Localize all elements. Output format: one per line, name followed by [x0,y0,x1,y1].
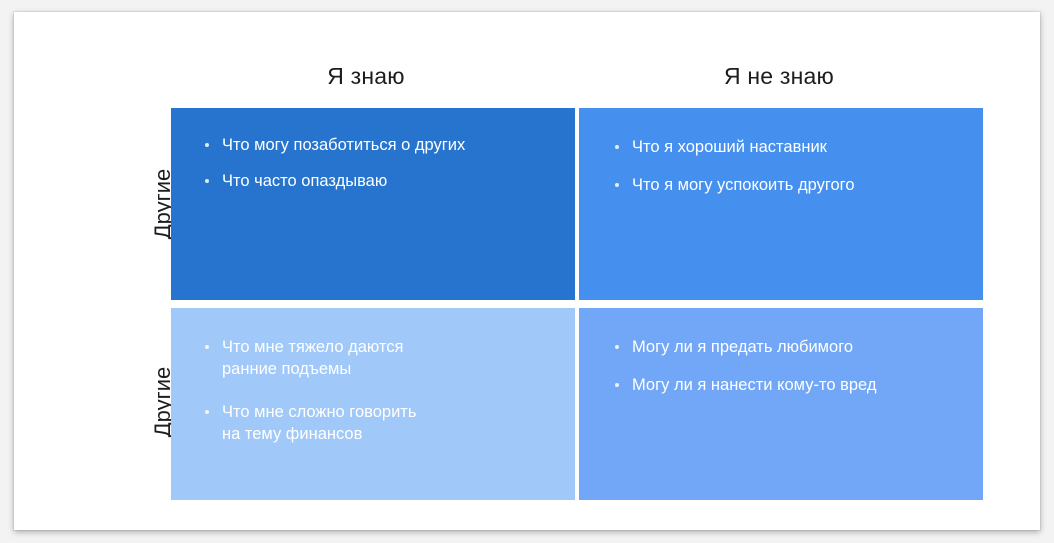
diagram-card: Я знаю Я не знаю Другие знают Другие не … [14,12,1040,530]
quadrant-unknown-area: Могу ли я предать любимого Могу ли я нан… [579,308,983,500]
list-item: Могу ли я предать любимого [615,336,961,358]
column-header-i-dont-know: Я не знаю [575,54,983,98]
quadrant-open-area-list: Что могу позаботиться о других Что часто… [205,134,553,193]
quadrant-open-area: Что могу позаботиться о других Что часто… [171,108,575,300]
quadrant-grid: Что могу позаботиться о других Что часто… [171,108,983,500]
list-item: Что я хороший наставник [615,136,961,158]
list-item: Что мне тяжело даются ранние подъемы [205,336,553,381]
list-item: Что часто опаздываю [205,170,553,192]
quadrant-hidden-area: Что мне тяжело даются ранние подъемы Что… [171,308,575,500]
johari-window-diagram: Я знаю Я не знаю Другие знают Другие не … [0,0,1054,543]
quadrant-hidden-area-list: Что мне тяжело даются ранние подъемы Что… [205,336,553,445]
quadrant-unknown-area-list: Могу ли я предать любимого Могу ли я нан… [615,336,961,397]
column-headers: Я знаю Я не знаю [157,54,983,98]
list-item: Что мне сложно говорить на тему финансов [205,401,553,446]
list-item: Что могу позаботиться о других [205,134,553,156]
quadrant-blind-area-list: Что я хороший наставник Что я могу успок… [615,136,961,197]
column-header-i-know: Я знаю [157,54,575,98]
list-item: Могу ли я нанести кому-то вред [615,374,961,396]
quadrant-blind-area: Что я хороший наставник Что я могу успок… [579,108,983,300]
list-item: Что я могу успокоить другого [615,174,961,196]
